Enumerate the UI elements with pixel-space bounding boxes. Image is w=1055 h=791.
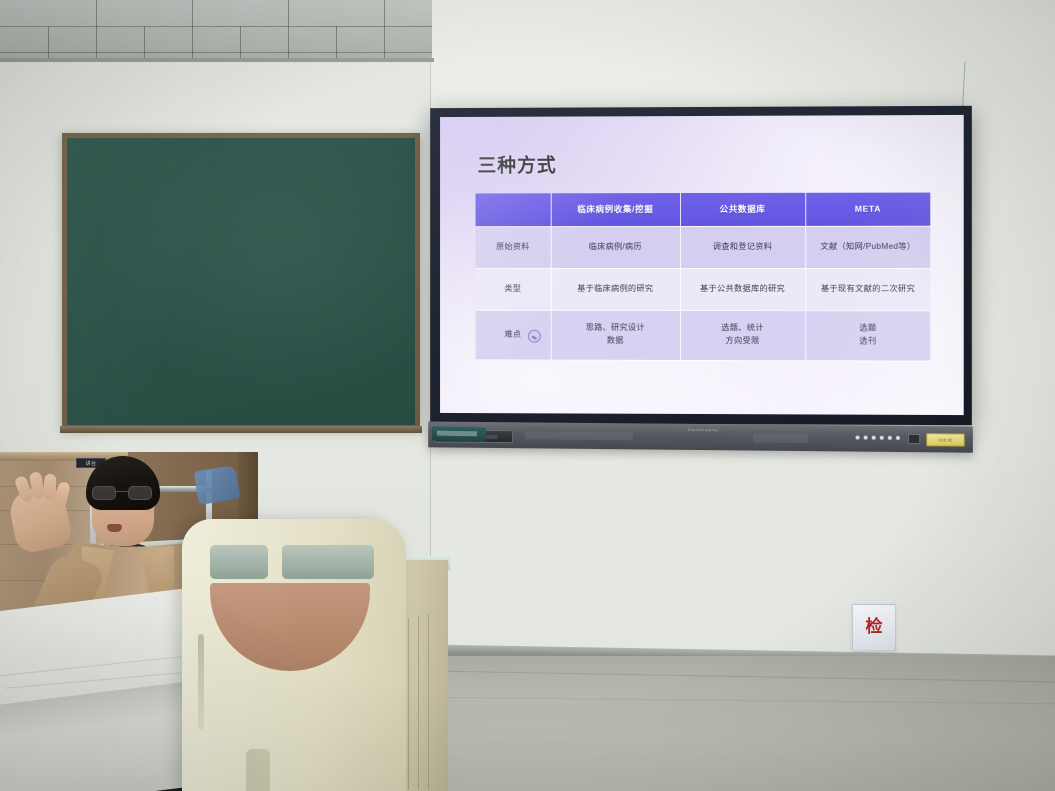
smart-display[interactable]: 三种方式 临床病例收集/挖掘 公共数据库 META 原始资料 临床病例/病历 调… xyxy=(430,106,972,425)
lecture-room-photo: 检 三种方式 临床病例收集/挖掘 公共数据库 META 原始资料 临床病例/病历… xyxy=(0,0,1055,791)
bezel-inset xyxy=(753,434,808,444)
wall-sign-text: 检 xyxy=(866,619,883,636)
display-brand-text: TouchDisplay xyxy=(688,427,719,432)
headboard-groove xyxy=(198,634,204,730)
cell-type-clinical: 基于临床病例的研究 xyxy=(551,268,680,310)
wall-socket-plate[interactable] xyxy=(432,427,486,442)
certification-label-text: CCC 3C xyxy=(938,438,952,442)
presenter-mouth xyxy=(107,524,122,532)
wall-sign-inspection: 检 xyxy=(852,604,896,651)
row-label-difficulty-text: 难点 xyxy=(504,329,521,338)
power-button-icon[interactable] xyxy=(856,435,860,439)
volume-up-icon[interactable] xyxy=(872,436,876,440)
cell-source-meta: 文献（知网/PubMed等） xyxy=(805,226,930,268)
display-button-row[interactable] xyxy=(856,435,900,439)
cell-source-clinical: 临床病例/病历 xyxy=(551,226,680,268)
row-label-difficulty: 难点 xyxy=(476,310,551,360)
presenter-glasses xyxy=(92,486,154,500)
cell-type-publicdb: 基于公共数据库的研究 xyxy=(680,268,805,310)
headboard-wood-inset xyxy=(210,583,370,671)
comparison-table: 临床病例收集/挖掘 公共数据库 META 原始资料 临床病例/病历 调查和登记资… xyxy=(476,193,931,362)
cell-difficulty-publicdb: 选题、统计方向受限 xyxy=(680,310,805,360)
source-button-icon[interactable] xyxy=(880,436,884,440)
cell-type-meta: 基于现有文献的二次研究 xyxy=(805,268,930,310)
home-button-icon[interactable] xyxy=(896,436,900,440)
bed-headboard xyxy=(182,519,406,791)
cell-difficulty-clinical: 思路、研究设计数据 xyxy=(551,310,680,360)
volume-down-icon[interactable] xyxy=(864,436,868,440)
certification-label: CCC 3C xyxy=(926,433,964,446)
table-row: 难点 思路、研究设计数据 选题、统计方向受限 选题选刊 xyxy=(476,310,931,361)
display-bottom-bezel[interactable]: TouchDisplay CCC 3C xyxy=(428,421,973,452)
table-header-row: 临床病例收集/挖掘 公共数据库 META xyxy=(476,193,931,227)
pointer-cursor-icon xyxy=(527,330,540,343)
trolley-blue-item xyxy=(194,465,241,505)
cell-source-publicdb: 调查和登记资料 xyxy=(680,226,805,268)
table-header-public-db: 公共数据库 xyxy=(680,193,805,226)
table-corner-cell xyxy=(476,193,551,226)
row-label-type: 类型 xyxy=(476,268,551,310)
table-header-meta: META xyxy=(805,193,930,226)
ceiling-edge xyxy=(0,58,434,62)
headboard-notch xyxy=(246,749,270,791)
row-label-source: 原始资料 xyxy=(476,226,551,268)
display-screen[interactable]: 三种方式 临床病例收集/挖掘 公共数据库 META 原始资料 临床病例/病历 调… xyxy=(440,115,964,415)
presentation-slide: 三种方式 临床病例收集/挖掘 公共数据库 META 原始资料 临床病例/病历 调… xyxy=(440,115,964,415)
presenter-hair xyxy=(86,456,160,510)
slide-title: 三种方式 xyxy=(478,149,934,177)
usb-port-icon[interactable] xyxy=(908,434,920,444)
headboard-slots xyxy=(210,545,374,579)
table-row: 类型 基于临床病例的研究 基于公共数据库的研究 基于现有文献的二次研究 xyxy=(476,268,931,310)
table-header-clinical: 临床病例收集/挖掘 xyxy=(551,193,680,226)
bezel-inset xyxy=(525,431,633,440)
ceiling-tiles xyxy=(0,0,432,62)
menu-button-icon[interactable] xyxy=(888,436,892,440)
cell-difficulty-meta: 选题选刊 xyxy=(805,310,930,360)
table-row: 原始资料 临床病例/病历 调查和登记资料 文献（知网/PubMed等） xyxy=(476,226,931,268)
